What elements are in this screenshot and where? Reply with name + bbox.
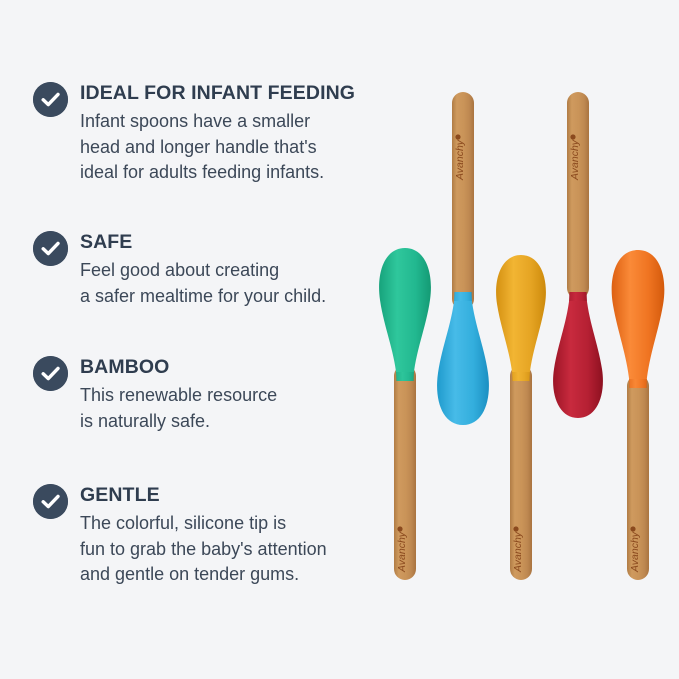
feature-item-gentle: GENTLE The colorful, silicone tip is fun…	[33, 484, 368, 588]
feature-title: SAFE	[80, 231, 368, 253]
feature-line: Infant spoons have a smaller	[80, 109, 368, 135]
feature-line: Feel good about creating	[80, 258, 368, 284]
feature-title: IDEAL FOR INFANT FEEDING	[80, 82, 368, 104]
feature-line: head and longer handle that's	[80, 135, 368, 161]
feature-line: and gentle on tender gums.	[80, 562, 368, 588]
feature-line: is naturally safe.	[80, 409, 368, 435]
feature-line: fun to grab the baby's attention	[80, 537, 368, 563]
teal-spoon: Avanchy	[373, 0, 437, 679]
product-image-spoon-set: Avanchy	[368, 0, 679, 679]
feature-title: GENTLE	[80, 484, 368, 506]
feature-line: ideal for adults feeding infants.	[80, 160, 368, 186]
orange-spoon: Avanchy	[606, 0, 670, 679]
red-spoon: Avanchy	[546, 0, 610, 679]
feature-text: IDEAL FOR INFANT FEEDING Infant spoons h…	[80, 82, 368, 186]
feature-item-bamboo: BAMBOO This renewable resource is natura…	[33, 356, 368, 434]
feature-line: a safer mealtime for your child.	[80, 284, 368, 310]
feature-description: Feel good about creating a safer mealtim…	[80, 258, 368, 310]
feature-description: Infant spoons have a smaller head and lo…	[80, 109, 368, 187]
feature-line: The colorful, silicone tip is	[80, 511, 368, 537]
brand-engraving: Avanchy	[454, 139, 466, 181]
feature-description: The colorful, silicone tip is fun to gra…	[80, 511, 368, 589]
check-circle-icon	[33, 231, 68, 266]
feature-description: This renewable resource is naturally saf…	[80, 383, 368, 435]
check-circle-icon	[33, 82, 68, 117]
feature-title: BAMBOO	[80, 356, 368, 378]
feature-text: GENTLE The colorful, silicone tip is fun…	[80, 484, 368, 588]
feature-item-ideal-for-infant-feeding: IDEAL FOR INFANT FEEDING Infant spoons h…	[33, 82, 368, 186]
check-circle-icon	[33, 484, 68, 519]
yellow-spoon: Avanchy	[489, 0, 553, 679]
blue-spoon: Avanchy	[431, 0, 495, 679]
feature-line: This renewable resource	[80, 383, 368, 409]
feature-item-safe: SAFE Feel good about creating a safer me…	[33, 231, 368, 309]
feature-text: BAMBOO This renewable resource is natura…	[80, 356, 368, 434]
feature-list: IDEAL FOR INFANT FEEDING Infant spoons h…	[0, 0, 375, 679]
check-circle-icon	[33, 356, 68, 391]
feature-text: SAFE Feel good about creating a safer me…	[80, 231, 368, 309]
brand-engraving: Avanchy	[512, 531, 524, 573]
brand-engraving: Avanchy	[569, 139, 581, 181]
brand-engraving: Avanchy	[396, 531, 408, 573]
brand-engraving: Avanchy	[629, 531, 641, 573]
